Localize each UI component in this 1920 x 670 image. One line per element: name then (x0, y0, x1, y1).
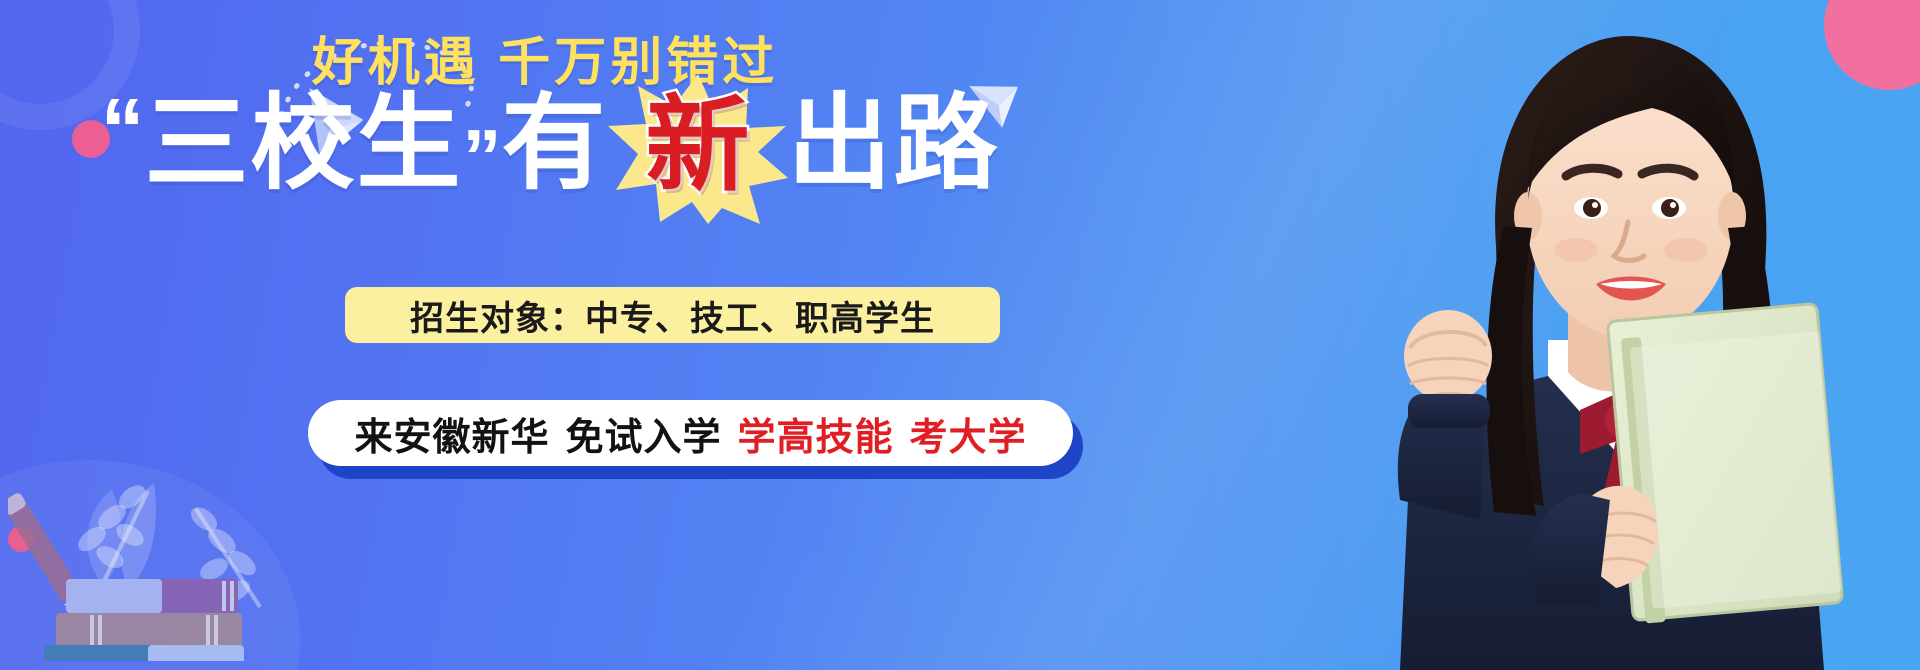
slogan-part-3: 学高技能 (738, 406, 894, 461)
starburst-icon: 新 (608, 92, 788, 210)
headline-after-quote: 有 (501, 92, 607, 196)
audience-pill: 招生对象：中专、技工、职高学生 (345, 287, 1000, 343)
banner-content: 好机遇 千万别错过 “三校生”有 新 出路 招生对象：中专、技工、职高学生 来安… (0, 0, 1120, 670)
promo-banner: 好机遇 千万别错过 “三校生”有 新 出路 招生对象：中专、技工、职高学生 来安… (0, 0, 1920, 670)
slogan-part-1: 来安徽新华 (354, 406, 549, 461)
headline-tail: 出路 (788, 92, 1000, 196)
headline-quoted-term: 三校生 (144, 92, 462, 196)
headline: “三校生”有 新 出路 (0, 92, 1100, 210)
quote-close-mark: ” (462, 118, 501, 196)
slogan-pill: 来安徽新华 免试入学 学高技能 考大学 (308, 400, 1083, 474)
slogan-part-4: 考大学 (910, 406, 1027, 461)
slogan-pill-body: 来安徽新华 免试入学 学高技能 考大学 (308, 400, 1073, 466)
student-photo (1280, 0, 1920, 670)
headline-highlight-char: 新 (608, 94, 788, 198)
kicker-text: 好机遇 千万别错过 (0, 20, 1090, 95)
quote-open-mark: “ (100, 86, 144, 174)
slogan-part-2: 免试入学 (565, 406, 721, 461)
